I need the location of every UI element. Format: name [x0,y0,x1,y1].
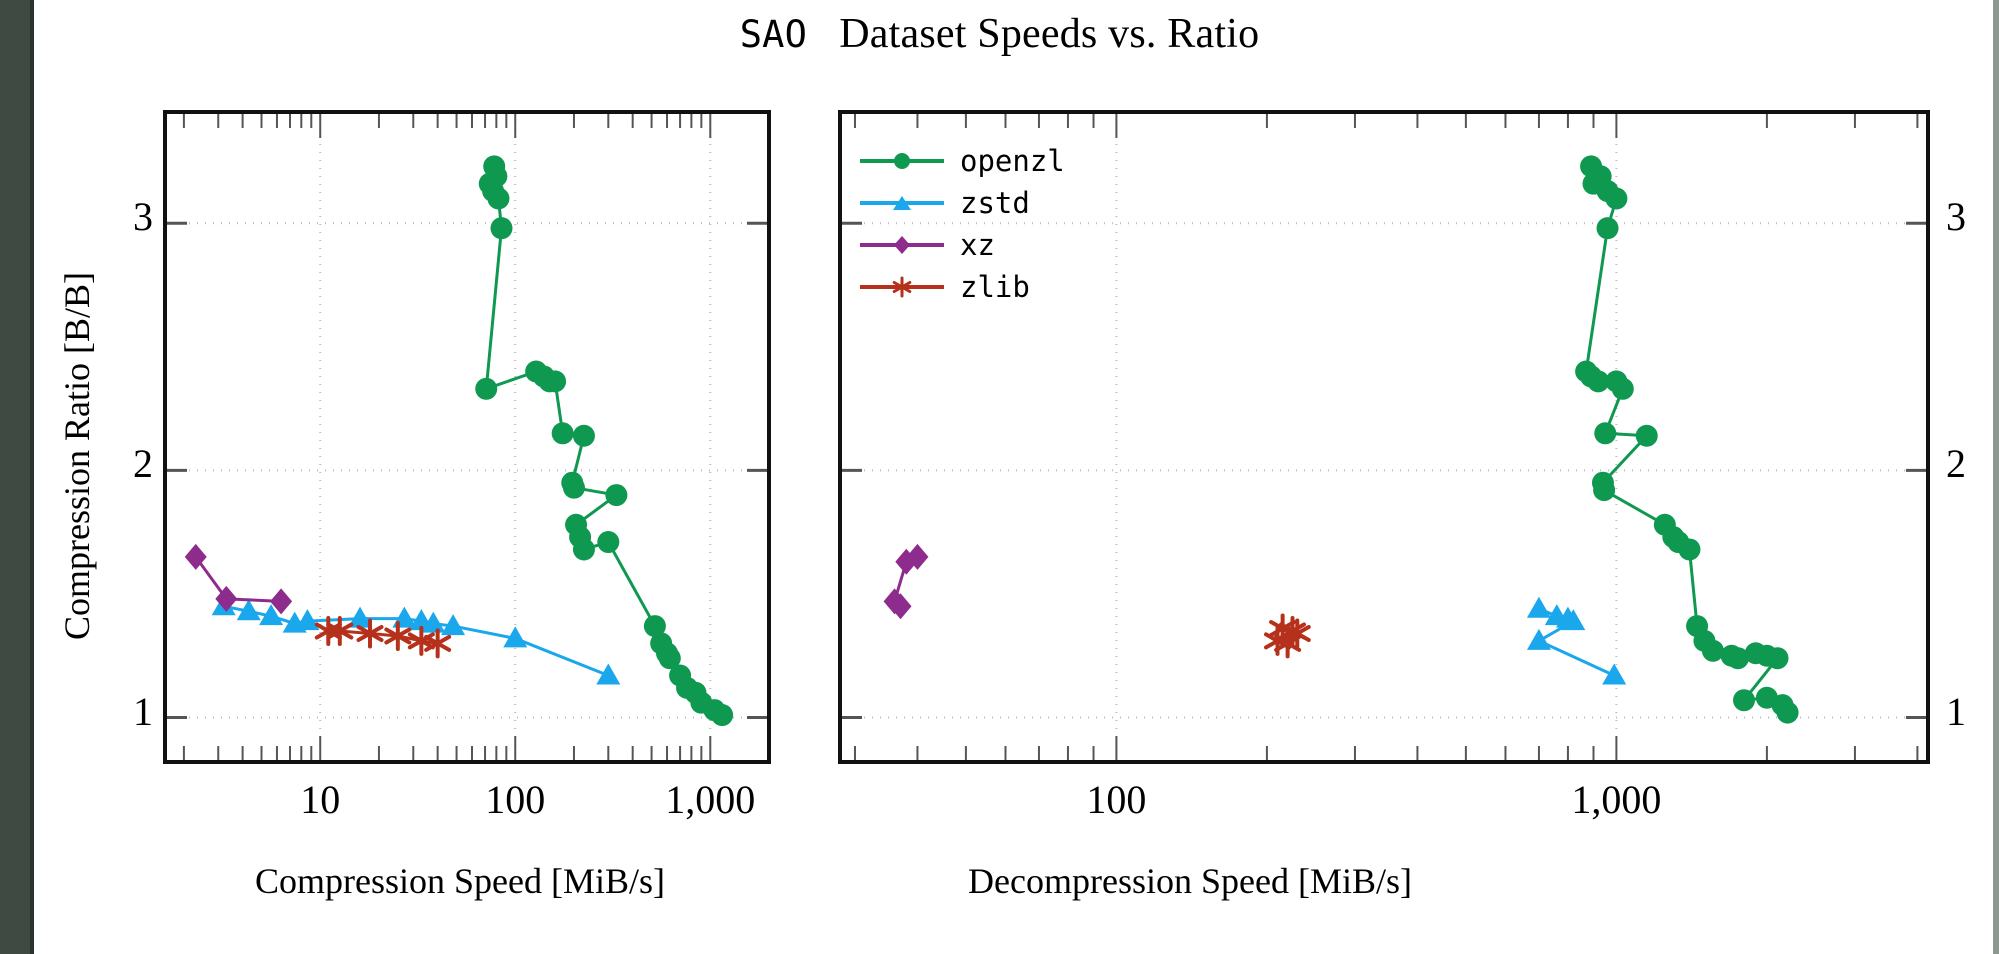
legend-label-zstd: zstd [960,189,1030,218]
y-tick-label: 2 [1946,440,1986,487]
legend: openzl zstd xz [860,140,1065,308]
legend-item-openzl[interactable]: openzl [860,140,1065,182]
y-tick-label: 3 [119,193,153,240]
right-panel: Decompression Speed [MiB/s] openzl [820,0,1999,954]
legend-item-xz[interactable]: xz [860,224,1065,266]
legend-swatch-openzl [860,159,944,163]
legend-label-openzl: openzl [960,147,1065,176]
x-tick-label: 1,000 [1526,776,1706,823]
diamond-marker-icon [891,233,913,257]
left-x-axis-title: Compression Speed [MiB/s] [140,860,780,902]
y-tick-label: 3 [1946,193,1986,240]
legend-swatch-xz [860,243,944,247]
triangle-marker-icon [890,192,914,214]
legend-label-zlib: zlib [960,273,1030,302]
y-tick-label: 2 [119,440,153,487]
chart-page: SAO Dataset Speeds vs. Ratio Compression… [0,0,1999,954]
legend-item-zstd[interactable]: zstd [860,182,1065,224]
left-y-axis-title: Compression Ratio [B/B] [56,272,98,640]
y-tick-label: 1 [1946,688,1986,735]
x-tick-label: 100 [425,776,605,823]
legend-swatch-zstd [860,201,944,205]
x-tick-label: 1,000 [620,776,800,823]
x-tick-label: 100 [1026,776,1206,823]
legend-label-xz: xz [960,231,995,260]
y-tick-label: 1 [119,688,153,735]
legend-swatch-zlib [860,285,944,289]
left-panel: Compression Ratio [B/B] Compression Spee… [0,0,820,954]
asterisk-marker-icon [890,275,914,299]
right-x-axis-title: Decompression Speed [MiB/s] [830,860,1550,902]
x-tick-label: 10 [230,776,410,823]
circle-marker-icon [891,150,913,172]
legend-item-zlib[interactable]: zlib [860,266,1065,308]
